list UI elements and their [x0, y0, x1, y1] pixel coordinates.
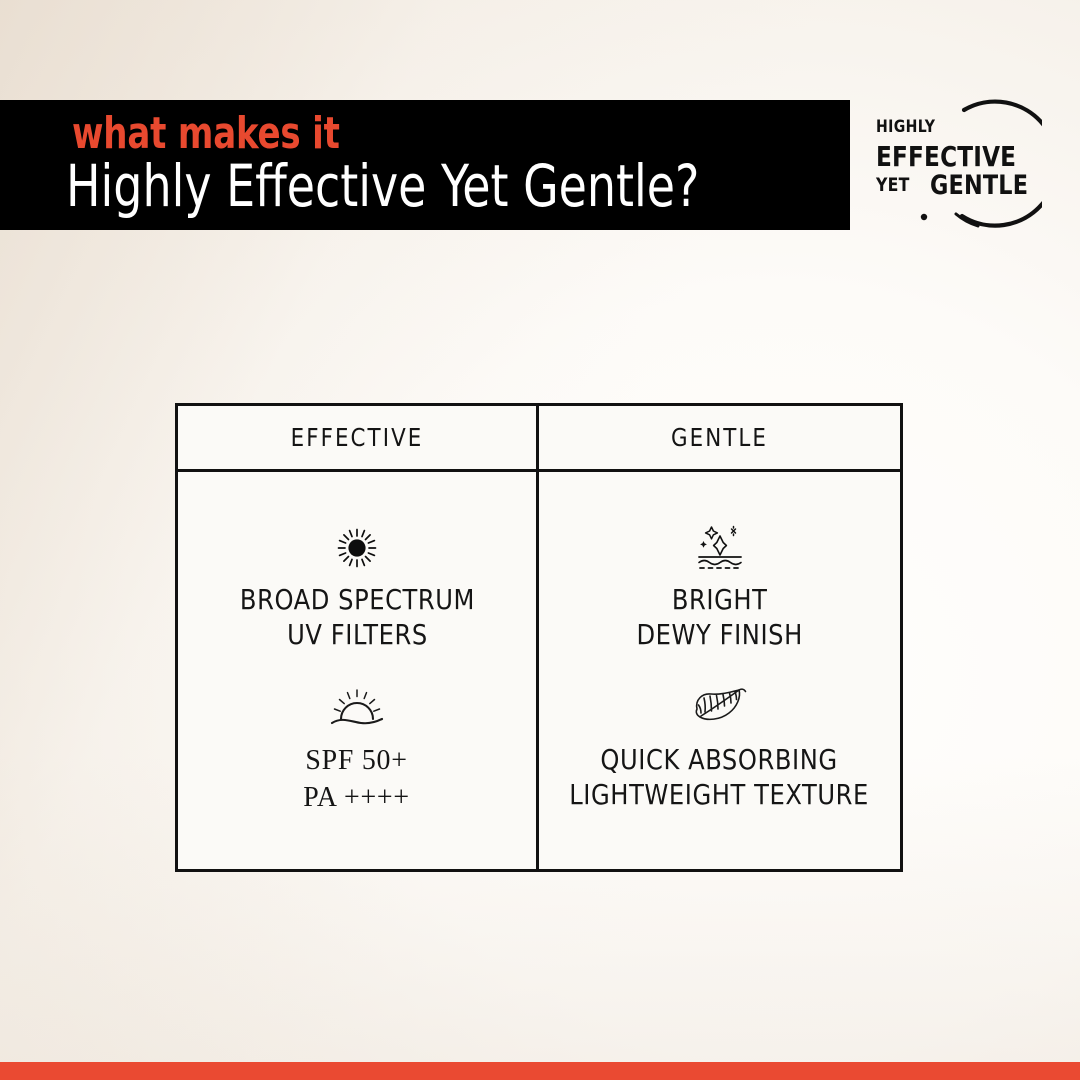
feature-label: QUICK ABSORBING LIGHTWEIGHT TEXTURE: [570, 742, 870, 812]
table-cell-effective: BROAD SPECTRUM UV FILTERS: [178, 472, 539, 869]
feature-item: SPF 50+ PA ++++: [178, 684, 536, 816]
brand-badge: HIGHLY EFFECTIVE YET GENTLE: [866, 96, 1042, 238]
feature-item: QUICK ABSORBING LIGHTWEIGHT TEXTURE: [539, 684, 900, 812]
feature-label: BROAD SPECTRUM UV FILTERS: [239, 582, 474, 652]
comparison-table: EFFECTIVE GENTLE: [175, 403, 903, 872]
sparkle-waves-icon: [695, 524, 745, 572]
feature-item: BROAD SPECTRUM UV FILTERS: [178, 524, 536, 652]
table-cell-gentle: BRIGHT DEWY FINISH: [539, 472, 900, 869]
column-header-label: GENTLE: [548, 406, 891, 469]
feature-label: SPF 50+ PA ++++: [304, 742, 411, 816]
sunrise-icon: [328, 684, 386, 732]
page-title: Highly Effective Yet Gentle?: [66, 152, 699, 220]
table-header-cell-effective: EFFECTIVE: [178, 406, 539, 469]
feature-label: BRIGHT DEWY FINISH: [636, 582, 802, 652]
table-header-row: EFFECTIVE GENTLE: [178, 406, 900, 472]
feather-icon: [689, 684, 751, 732]
column-header-label: EFFECTIVE: [187, 406, 527, 469]
header-band: what makes it Highly Effective Yet Gentl…: [0, 100, 850, 230]
feature-item: BRIGHT DEWY FINISH: [539, 524, 900, 652]
table-header-cell-gentle: GENTLE: [539, 406, 900, 469]
circle-arc-badge-icon: [866, 96, 1042, 238]
table-body-row: BROAD SPECTRUM UV FILTERS: [178, 472, 900, 869]
sun-icon: [334, 524, 380, 572]
footer-accent-bar: [0, 1062, 1080, 1080]
poster-canvas: what makes it Highly Effective Yet Gentl…: [0, 0, 1080, 1080]
